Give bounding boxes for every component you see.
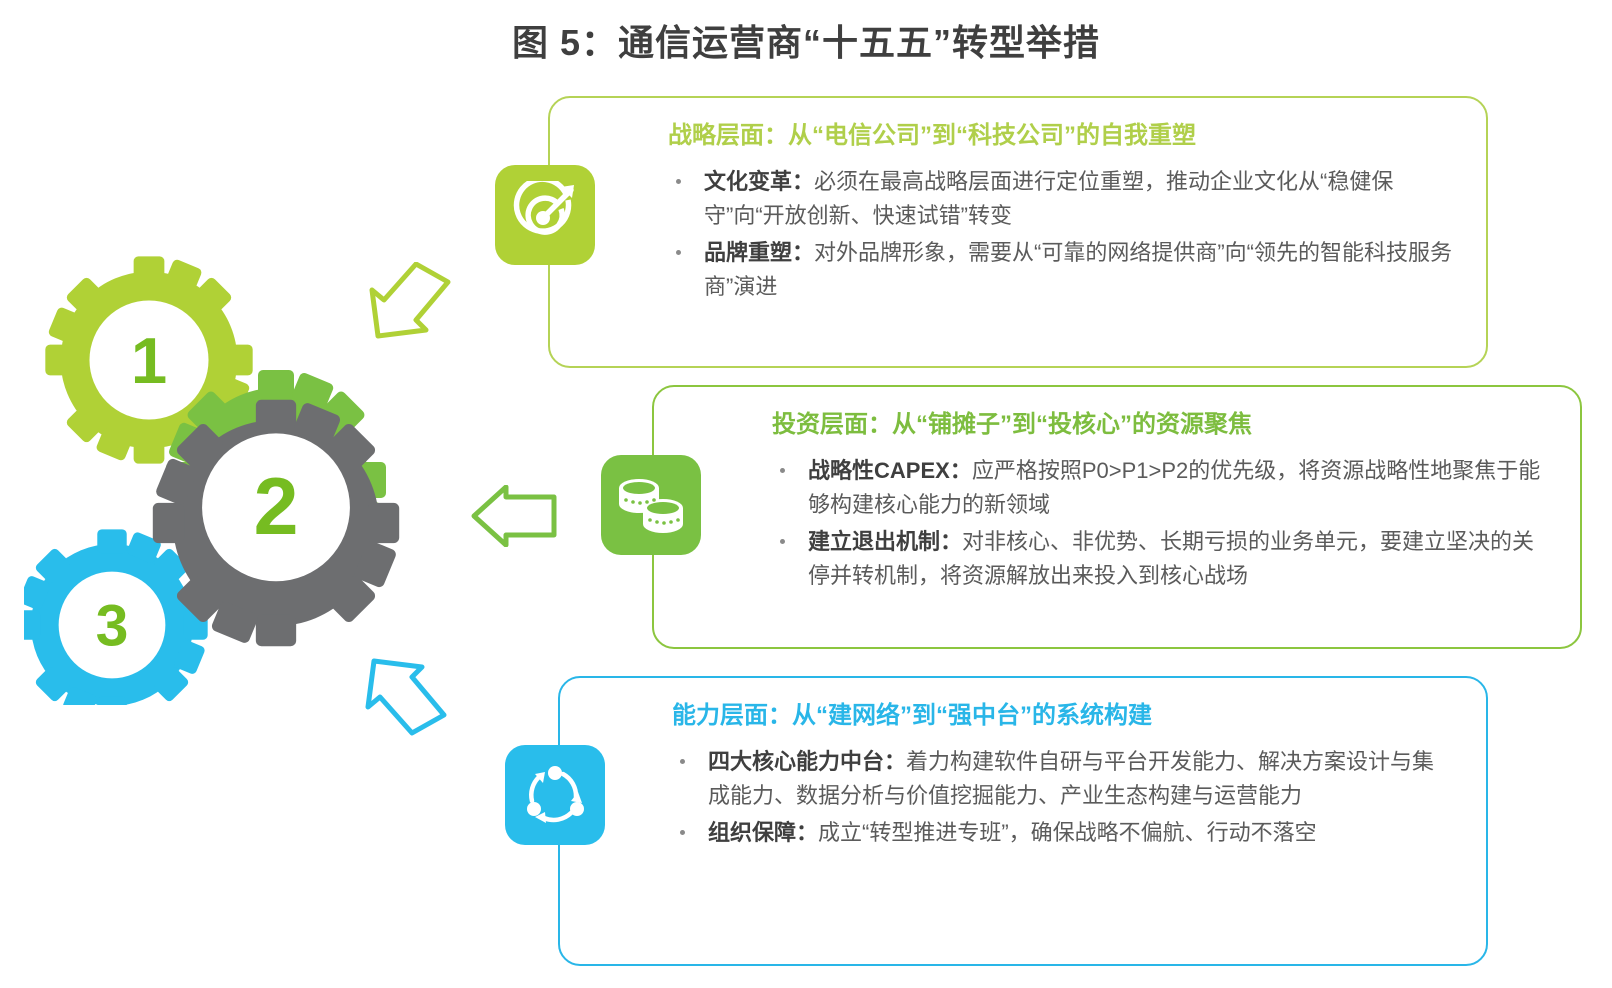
gear-three-label: 3 <box>96 593 129 658</box>
list-item: 组织保障：成立“转型推进专班”，确保战略不偏航、行动不落空 <box>672 816 1452 849</box>
list-item: 文化变革：必须在最高战略层面进行定位重塑，推动企业文化从“稳健保守”向“开放创新… <box>668 165 1452 232</box>
gear-one-label: 1 <box>131 324 167 397</box>
card-investment-layer[interactable]: 投资层面：从“铺摊子”到“投核心”的资源聚焦 战略性CAPEX：应严格按照P0>… <box>652 385 1582 649</box>
arrow-to-gear-two <box>468 485 560 547</box>
card-strategy-bullets: 文化变革：必须在最高战略层面进行定位重塑，推动企业文化从“稳健保守”向“开放创新… <box>668 165 1452 303</box>
card-capability-layer[interactable]: 能力层面：从“建网络”到“强中台”的系统构建 四大核心能力中台：着力构建软件自研… <box>558 676 1488 966</box>
arrow-to-gear-one <box>362 262 458 342</box>
bullet-lead: 文化变革： <box>704 169 814 194</box>
card-strategy-heading: 战略层面：从“电信公司”到“科技公司”的自我重塑 <box>668 120 1452 151</box>
gear-two-label: 2 <box>254 462 299 552</box>
coins-icon <box>601 455 701 555</box>
bullet-lead: 品牌重塑： <box>704 240 814 265</box>
gear-two: 2 <box>153 400 399 646</box>
target-icon <box>495 165 595 265</box>
bullet-lead: 战略性CAPEX： <box>808 458 972 483</box>
card-capability-heading: 能力层面：从“建网络”到“强中台”的系统构建 <box>672 700 1452 731</box>
list-item: 四大核心能力中台：着力构建软件自研与平台开发能力、解决方案设计与集成能力、数据分… <box>672 745 1452 812</box>
card-investment-bullets: 战略性CAPEX：应严格按照P0>P1>P2的优先级，将资源战略性地聚焦于能够构… <box>772 454 1546 592</box>
bullet-text: 成立“转型推进专班”，确保战略不偏航、行动不落空 <box>818 820 1317 845</box>
cycle-nodes-icon <box>505 745 605 845</box>
bullet-lead: 建立退出机制： <box>808 529 962 554</box>
list-item: 品牌重塑：对外品牌形象，需要从“可靠的网络提供商”向“领先的智能科技服务商”演进 <box>668 236 1452 303</box>
arrow-to-gear-three <box>358 655 454 737</box>
page-title: 图 5：通信运营商“十五五”转型举措 <box>0 14 1612 66</box>
bullet-lead: 四大核心能力中台： <box>708 749 906 774</box>
list-item: 建立退出机制：对非核心、非优势、长期亏损的业务单元，要建立坚决的关停并转机制，将… <box>772 525 1546 592</box>
bullet-text: 对外品牌形象，需要从“可靠的网络提供商”向“领先的智能科技服务商”演进 <box>704 240 1452 298</box>
card-investment-heading: 投资层面：从“铺摊子”到“投核心”的资源聚焦 <box>772 409 1546 440</box>
list-item: 战略性CAPEX：应严格按照P0>P1>P2的优先级，将资源战略性地聚焦于能够构… <box>772 454 1546 521</box>
card-strategy-layer[interactable]: 战略层面：从“电信公司”到“科技公司”的自我重塑 文化变革：必须在最高战略层面进… <box>548 96 1488 368</box>
bullet-lead: 组织保障： <box>708 820 818 845</box>
card-capability-bullets: 四大核心能力中台：着力构建软件自研与平台开发能力、解决方案设计与集成能力、数据分… <box>672 745 1452 849</box>
